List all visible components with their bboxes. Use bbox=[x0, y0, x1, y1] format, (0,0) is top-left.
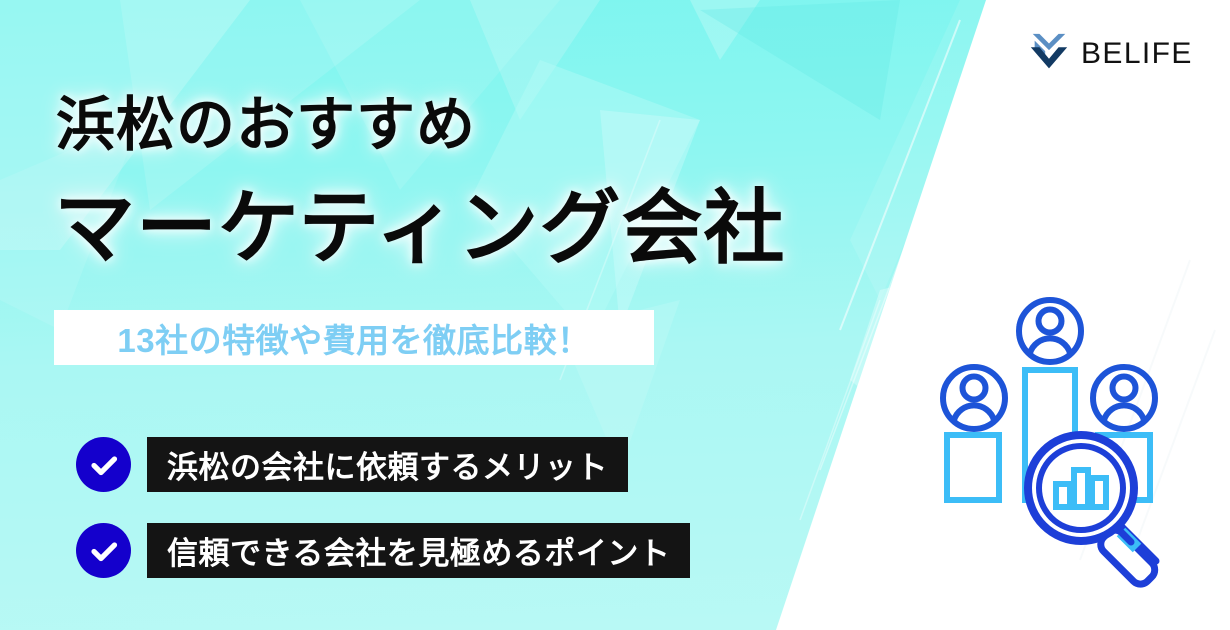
bullet-item-1: 浜松の会社に依頼するメリット bbox=[76, 437, 628, 492]
double-chevron-down-icon bbox=[1028, 32, 1070, 76]
hero-subtitle-bar: 13社の特徴や費用を徹底比較！ bbox=[54, 310, 654, 365]
person-avatar-icon bbox=[1019, 300, 1081, 362]
brand-logo[interactable]: BELIFE bbox=[1028, 32, 1193, 76]
bullet-chip-2: 信頼できる会社を見極めるポイント bbox=[147, 523, 690, 578]
magnifying-glass-chart-icon bbox=[1028, 435, 1159, 588]
market-research-illustration bbox=[925, 285, 1195, 595]
hero-subtitle-text: 13社の特徴や費用を徹底比較！ bbox=[117, 314, 590, 362]
hero-title-line-2: マーケティング会社 bbox=[54, 186, 786, 273]
person-avatar-icon bbox=[943, 367, 1005, 429]
hero-banner: BELIFE 浜松のおすすめ マーケティング会社 13社の特徴や費用を徹底比較！… bbox=[0, 0, 1230, 630]
bullet-item-2: 信頼できる会社を見極めるポイント bbox=[76, 523, 690, 578]
person-avatar-icon bbox=[1093, 367, 1155, 429]
bullet-label-2: 信頼できる会社を見極めるポイント bbox=[167, 528, 670, 573]
check-circle-icon bbox=[76, 437, 131, 492]
brand-logo-text: BELIFE bbox=[1081, 37, 1193, 71]
bullet-label-1: 浜松の会社に依頼するメリット bbox=[167, 442, 608, 487]
check-circle-icon bbox=[76, 523, 131, 578]
bullet-chip-1: 浜松の会社に依頼するメリット bbox=[147, 437, 628, 492]
bar-outline-icon bbox=[947, 435, 999, 500]
hero-title-line-1: 浜松のおすすめ bbox=[56, 96, 476, 155]
